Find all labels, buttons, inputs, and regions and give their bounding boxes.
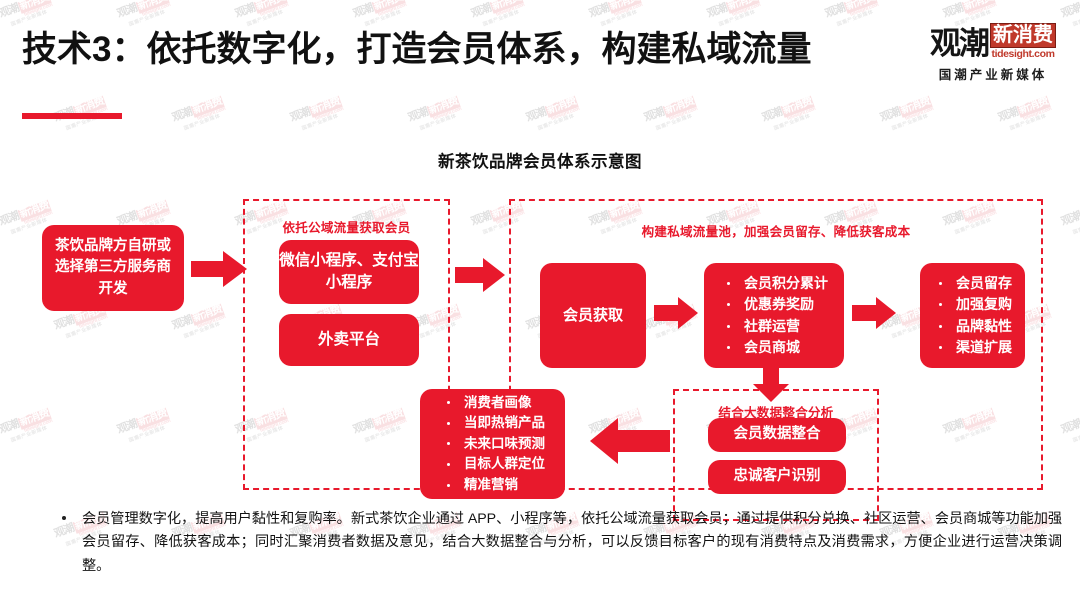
public-domain-box-miniprogram: 微信小程序、支付宝小程序 (279, 240, 419, 304)
insight-box: 消费者画像 当即热销产品 未来口味预测 目标人群定位 精准营销 (420, 389, 565, 499)
bigdata-box-loyalty: 忠诚客户识别 (708, 460, 846, 494)
logo-right-stack: 新消费 tidesight.com (990, 23, 1056, 60)
private-domain-group-title: 构建私域流量池，加强会员留存、降低获客成本 (511, 221, 1041, 240)
slide-header: 技术3：依托数字化，打造会员体系，构建私域流量 观潮 新消费 tidesight… (0, 0, 1080, 130)
membership-system-diagram: 新茶饮品牌会员体系示意图 茶饮品牌方自研或选择第三方服务商开发 依托公域流量获取… (0, 130, 1080, 500)
bigdata-box-integration: 会员数据整合 (708, 418, 846, 452)
member-acquire-box: 会员获取 (540, 263, 646, 368)
brand-logo: 观潮 新消费 tidesight.com 国潮产业新媒体 (918, 20, 1068, 86)
insight-item: 消费者画像 (442, 393, 545, 414)
public-domain-box-delivery-label: 外卖平台 (318, 329, 380, 351)
title-underline-rule (22, 113, 122, 119)
member-operate-item: 会员商城 (722, 337, 828, 358)
slide-footer: 2023国潮新茶饮产业发展洞察报告 41 (0, 565, 1080, 610)
arrow-bigdata-to-insight (590, 418, 670, 464)
diagram-title: 新茶饮品牌会员体系示意图 (0, 148, 1080, 172)
member-operate-item: 会员积分累计 (722, 273, 828, 294)
logo-tagline: 国潮产业新媒体 (918, 64, 1068, 83)
member-operate-item: 社群运营 (722, 316, 828, 337)
arrow-operate-to-retain (852, 297, 896, 329)
origin-box-label: 茶饮品牌方自研或选择第三方服务商开发 (54, 236, 172, 299)
member-retain-item: 渠道扩展 (934, 337, 1012, 358)
insight-item: 目标人群定位 (442, 454, 545, 475)
member-retain-item: 会员留存 (934, 273, 1012, 294)
member-retain-item: 加强复购 (934, 294, 1012, 315)
public-domain-box-miniprogram-label: 微信小程序、支付宝小程序 (279, 250, 419, 295)
member-operate-list: 会员积分累计 优惠券奖励 社群运营 会员商城 (722, 273, 828, 358)
member-retain-item: 品牌黏性 (934, 316, 1012, 337)
member-operate-box: 会员积分累计 优惠券奖励 社群运营 会员商城 (704, 263, 844, 368)
insight-item: 当即热销产品 (442, 413, 545, 434)
insight-item: 精准营销 (442, 475, 545, 496)
insight-item: 未来口味预测 (442, 434, 545, 455)
logo-brand-red: 新消费 (990, 23, 1056, 48)
logo-brand-cn: 观潮 (930, 28, 988, 60)
member-retain-list: 会员留存 加强复购 品牌黏性 渠道扩展 (934, 273, 1012, 358)
logo-wordmark-row: 观潮 新消费 tidesight.com (918, 20, 1068, 60)
arrow-acquire-to-operate (654, 297, 698, 329)
bigdata-group: 结合大数据整合分析 (673, 389, 879, 521)
slide-canvas: 观潮新消费tidesight.com国潮产业新媒体观潮新消费tidesight.… (0, 0, 1080, 610)
insight-list: 消费者画像 当即热销产品 未来口味预测 目标人群定位 精准营销 (442, 393, 545, 496)
member-operate-item: 优惠券奖励 (722, 294, 828, 315)
origin-box: 茶饮品牌方自研或选择第三方服务商开发 (42, 225, 184, 311)
logo-domain-text: tidesight.com (990, 48, 1056, 60)
member-retain-box: 会员留存 加强复购 品牌黏性 渠道扩展 (920, 263, 1025, 368)
page-title: 技术3：依托数字化，打造会员体系，构建私域流量 (22, 21, 811, 72)
bigdata-box-integration-label: 会员数据整合 (734, 424, 821, 445)
arrow-public-to-private (455, 258, 505, 292)
member-acquire-box-label: 会员获取 (563, 305, 623, 327)
arrow-origin-to-public (191, 251, 247, 287)
public-domain-group-title: 依托公域流量获取会员 (245, 217, 448, 236)
public-domain-box-delivery: 外卖平台 (279, 314, 419, 366)
summary-bullet-icon (62, 516, 66, 520)
bigdata-box-loyalty-label: 忠诚客户识别 (734, 466, 821, 487)
